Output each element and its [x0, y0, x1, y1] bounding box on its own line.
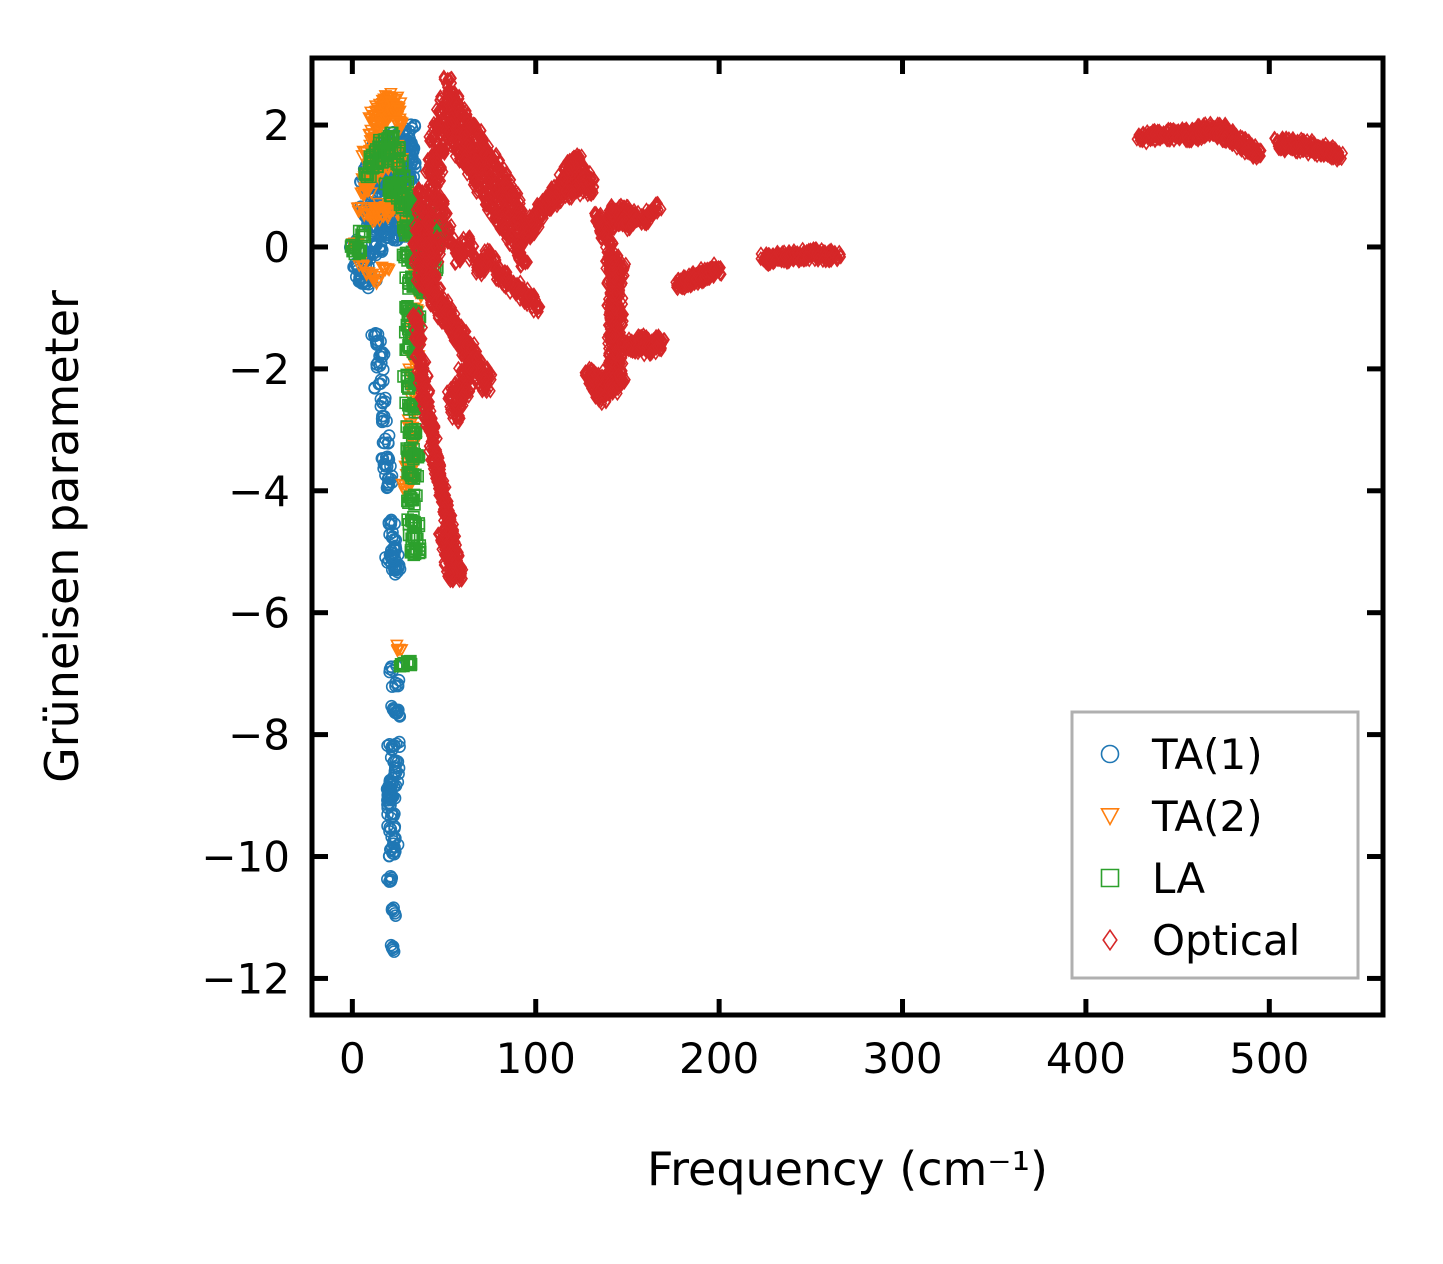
y-tick-label: −10 [201, 833, 290, 882]
y-tick-label: −4 [228, 467, 290, 516]
scatter-plot: 010020030040050020−2−4−6−8−10−12Frequenc… [0, 0, 1443, 1264]
x-tick-label: 500 [1229, 1034, 1309, 1083]
y-axis-title: Grüneisen parameter [35, 290, 89, 783]
x-tick-label: 100 [496, 1034, 576, 1083]
y-tick-label: 2 [263, 101, 290, 150]
y-tick-label: −6 [228, 589, 290, 638]
x-tick-label: 300 [862, 1034, 942, 1083]
figure-canvas: 010020030040050020−2−4−6−8−10−12Frequenc… [0, 0, 1443, 1264]
series-optical [407, 71, 1347, 588]
x-axis-title: Frequency (cm⁻¹) [647, 1142, 1048, 1196]
y-tick-label: −2 [228, 345, 290, 394]
y-tick-label: −12 [201, 954, 290, 1003]
legend-label: TA(1) [1151, 730, 1263, 779]
y-tick-label: −8 [228, 711, 290, 760]
legend: TA(1)TA(2)LAOptical [1072, 712, 1358, 978]
legend-label: LA [1152, 854, 1205, 903]
x-tick-label: 400 [1046, 1034, 1126, 1083]
x-tick-label: 200 [679, 1034, 759, 1083]
legend-label: TA(2) [1151, 792, 1263, 841]
y-tick-label: 0 [263, 223, 290, 272]
legend-label: Optical [1152, 916, 1300, 965]
x-tick-label: 0 [339, 1034, 366, 1083]
